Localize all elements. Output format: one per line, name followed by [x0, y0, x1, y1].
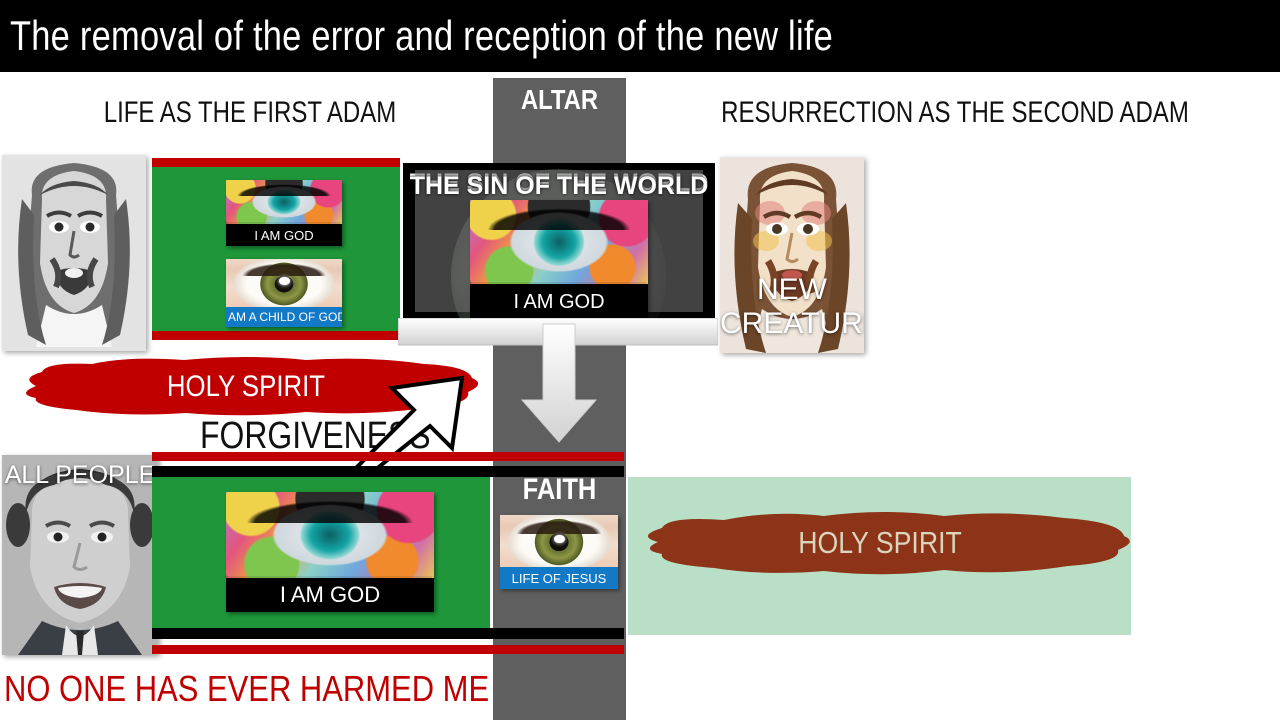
no-one-harmed-label: NO ONE HAS EVER HARMED ME — [4, 668, 489, 710]
altar-label: ALTAR — [503, 84, 616, 116]
sin-box-eye-caption: I AM GOD — [470, 284, 648, 320]
watercolor-jesus-portrait: NEW CREATURE — [720, 157, 864, 353]
new-creature-line1: NEW — [720, 273, 864, 307]
top-red-bar-left — [152, 158, 400, 167]
eye-card-child-of-god: I AM A CHILD OF GOD — [226, 259, 342, 327]
real-eye-image-faith — [500, 515, 618, 567]
faith-eye-caption: LIFE OF JESUS — [500, 567, 618, 589]
all-people-caption: ALL PEOPLE — [2, 461, 158, 490]
column-header-left: LIFE AS THE FIRST ADAM — [50, 96, 450, 130]
all-people-photo: ALL PEOPLE — [2, 455, 158, 655]
eye-card-i-am-god-bottom: I AM GOD — [226, 492, 434, 612]
bottom-red-bar-top — [152, 452, 624, 461]
eye-card-caption: I AM GOD — [226, 224, 342, 246]
top-red-bar-left-bottom — [152, 331, 400, 340]
holy-spirit-cloud-red-label-wrap: HOLY SPIRIT — [6, 356, 486, 418]
mosaic-eye-image-bottom — [226, 492, 434, 578]
new-creature-line2: CREATURE — [720, 307, 864, 341]
column-header-right: RESURRECTION AS THE SECOND ADAM — [695, 96, 1215, 130]
eye-card-caption: I AM GOD — [226, 578, 434, 612]
bottom-red-bar-bottom — [152, 645, 624, 654]
mosaic-eye-image — [226, 180, 342, 224]
slide-canvas: The removal of the error and reception o… — [0, 0, 1280, 720]
holy-spirit-cloud-brown-label-wrap: HOLY SPIRIT — [624, 508, 1136, 578]
holy-spirit-label-brown: HOLY SPIRIT — [798, 525, 961, 561]
sin-box-eye-card: I AM GOD — [470, 200, 648, 320]
faith-eye-card: LIFE OF JESUS — [500, 515, 618, 589]
mosaic-eye-image-large — [470, 200, 648, 284]
holy-spirit-label-red: HOLY SPIRIT — [167, 370, 325, 404]
real-eye-image — [226, 259, 342, 307]
eye-card-caption: I AM A CHILD OF GOD — [226, 307, 342, 327]
jesus-face-grayscale-icon — [2, 155, 146, 351]
title-bar: The removal of the error and reception o… — [0, 0, 1280, 72]
sin-of-the-world-title-visible: THE SIN OF THE WORLD — [403, 172, 715, 201]
bottom-black-bar-bottom — [152, 628, 624, 639]
eye-card-i-am-god-top: I AM GOD — [226, 180, 342, 246]
page-title: The removal of the error and reception o… — [10, 8, 833, 64]
grayscale-jesus-portrait — [2, 155, 146, 351]
faith-label: FAITH — [503, 473, 616, 507]
